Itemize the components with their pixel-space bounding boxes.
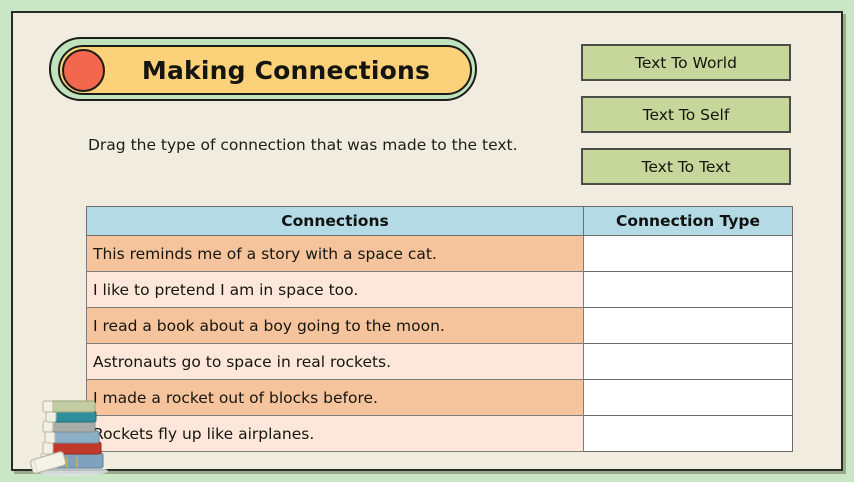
drag-chip-label: Text To World [635,54,737,72]
column-header-connection-type: Connection Type [584,207,793,236]
drop-zone-cell[interactable] [584,416,793,452]
statement-cell: I like to pretend I am in space too. [87,272,584,308]
drag-chip-text-to-self[interactable]: Text To Self [581,96,791,133]
stack-of-books-icon [27,395,111,479]
page-title: Making Connections [100,56,430,85]
instruction-text: Drag the type of connection that was mad… [88,135,528,156]
drag-chip-text-to-text[interactable]: Text To Text [581,148,791,185]
drop-zone-cell[interactable] [584,236,793,272]
drag-chip-label: Text To Self [643,106,730,124]
statement-cell: Rockets fly up like airplanes. [87,416,584,452]
page-title-pill: Making Connections [58,45,472,95]
drop-zone-cell[interactable] [584,344,793,380]
drop-zone-cell[interactable] [584,380,793,416]
drop-zone-cell[interactable] [584,308,793,344]
content-panel: Making Connections Drag the type of conn… [11,11,843,471]
table-row: Rockets fly up like airplanes. [87,416,793,452]
drag-chip-label: Text To Text [642,158,731,176]
table-row: I like to pretend I am in space too. [87,272,793,308]
statement-cell: I read a book about a boy going to the m… [87,308,584,344]
slide-canvas: Making Connections Drag the type of conn… [0,0,854,482]
column-header-connections: Connections [87,207,584,236]
connections-table: Connections Connection Type This reminds… [86,206,793,452]
page-title-banner: Making Connections [49,37,477,101]
statement-cell: Astronauts go to space in real rockets. [87,344,584,380]
table-row: Astronauts go to space in real rockets. [87,344,793,380]
drag-chip-text-to-world[interactable]: Text To World [581,44,791,81]
table-row: I read a book about a boy going to the m… [87,308,793,344]
statement-cell: This reminds me of a story with a space … [87,236,584,272]
statement-cell: I made a rocket out of blocks before. [87,380,584,416]
drop-zone-cell[interactable] [584,272,793,308]
table-row: This reminds me of a story with a space … [87,236,793,272]
table-header-row: Connections Connection Type [87,207,793,236]
table-row: I made a rocket out of blocks before. [87,380,793,416]
accent-circle-icon [62,49,105,92]
